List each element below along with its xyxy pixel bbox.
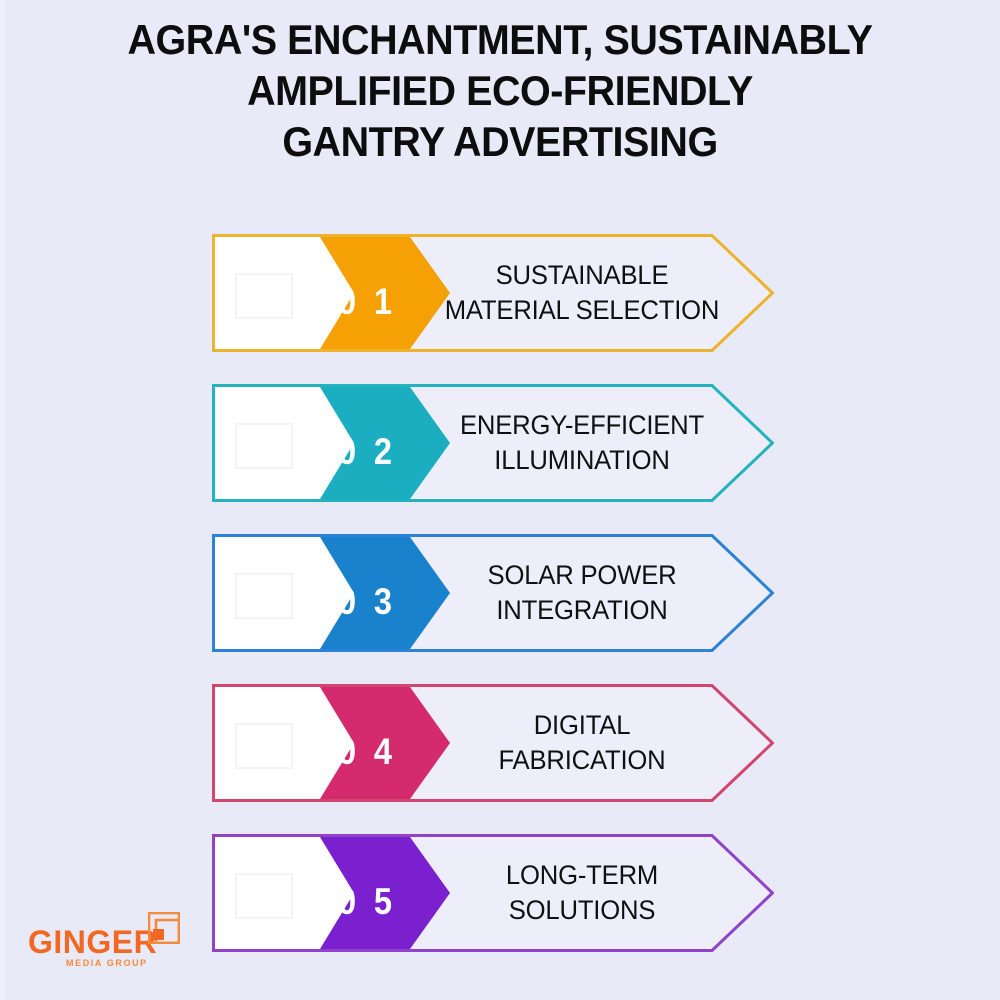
step-label-line: SOLAR POWER bbox=[488, 558, 677, 593]
title-line-1: AGRA'S ENCHANTMENT, SUSTAINABLY bbox=[30, 14, 970, 65]
step-number: 0 1 bbox=[325, 243, 404, 361]
step-label-line: SOLUTIONS bbox=[509, 893, 656, 928]
step-label-line: LONG-TERM bbox=[506, 858, 658, 893]
step-number: 0 5 bbox=[325, 843, 404, 961]
step-item[interactable]: 0 5 LONG-TERM SOLUTIONS bbox=[212, 834, 774, 952]
step-number: 0 3 bbox=[325, 543, 404, 661]
step-item[interactable]: 0 2 ENERGY-EFFICIENT ILLUMINATION bbox=[212, 384, 774, 502]
ginger-logo-mark-icon bbox=[148, 912, 180, 944]
step-label-line: FABRICATION bbox=[498, 743, 665, 778]
step-label-line: MATERIAL SELECTION bbox=[445, 293, 720, 328]
step-item[interactable]: 0 3 SOLAR POWER INTEGRATION bbox=[212, 534, 774, 652]
logo-subtitle: MEDIA GROUP bbox=[66, 958, 148, 968]
step-label: ENERGY-EFFICIENT ILLUMINATION bbox=[451, 384, 713, 502]
logo-wordmark: GINGER bbox=[28, 924, 157, 961]
step-label-line: SUSTAINABLE bbox=[496, 258, 669, 293]
step-number: 0 4 bbox=[325, 693, 404, 811]
step-label: LONG-TERM SOLUTIONS bbox=[451, 834, 713, 952]
step-item[interactable]: 0 4 DIGITAL FABRICATION bbox=[212, 684, 774, 802]
step-label: SUSTAINABLE MATERIAL SELECTION bbox=[451, 234, 713, 352]
step-item[interactable]: 0 1 SUSTAINABLE MATERIAL SELECTION bbox=[212, 234, 774, 352]
step-label: SOLAR POWER INTEGRATION bbox=[451, 534, 713, 652]
page-title: AGRA'S ENCHANTMENT, SUSTAINABLY AMPLIFIE… bbox=[0, 14, 1000, 167]
step-label: DIGITAL FABRICATION bbox=[451, 684, 713, 802]
step-label-line: INTEGRATION bbox=[496, 593, 667, 628]
brand-logo: GINGER MEDIA GROUP bbox=[28, 912, 198, 976]
title-line-2: AMPLIFIED ECO-FRIENDLY bbox=[30, 65, 970, 116]
step-number: 0 2 bbox=[325, 393, 404, 511]
step-label-line: ILLUMINATION bbox=[494, 443, 669, 478]
step-label-line: ENERGY-EFFICIENT bbox=[460, 408, 704, 443]
step-label-line: DIGITAL bbox=[534, 708, 631, 743]
steps-list: 0 1 SUSTAINABLE MATERIAL SELECTION 0 2 E… bbox=[212, 234, 782, 952]
title-line-3: GANTRY ADVERTISING bbox=[30, 116, 970, 167]
